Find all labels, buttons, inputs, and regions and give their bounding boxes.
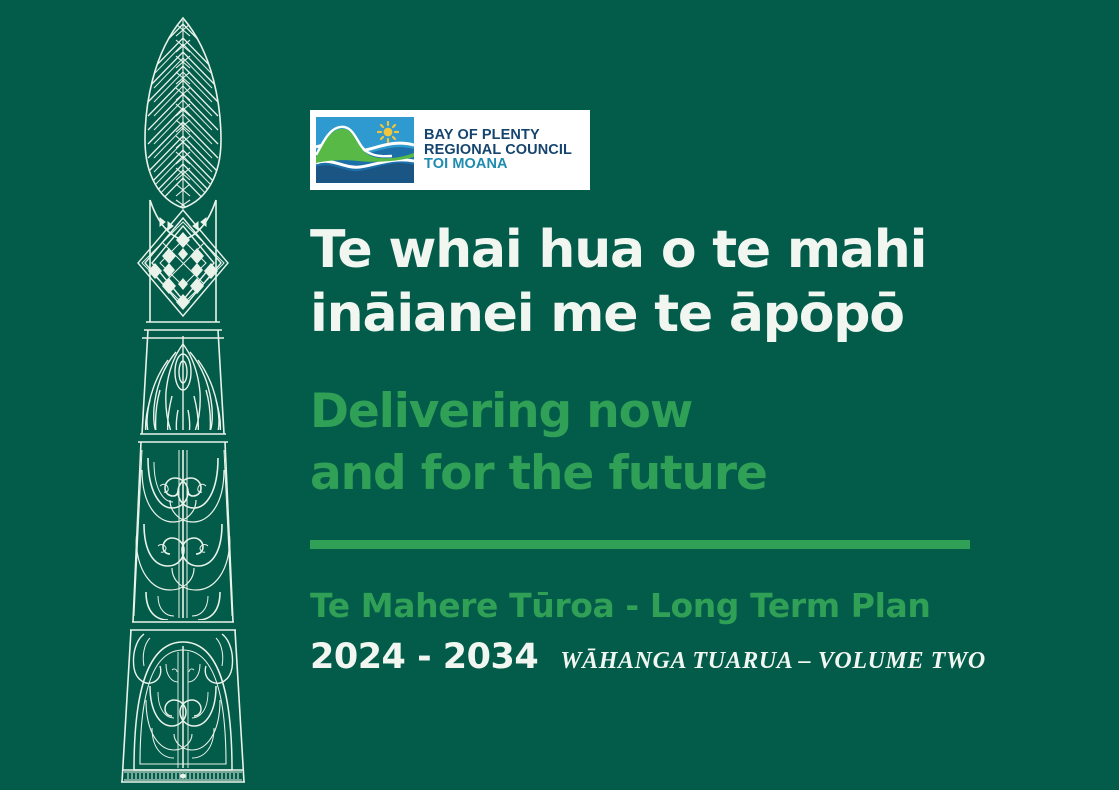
cover-text-block: Te whai hua o te mahi ināianei me te āpō… — [310, 0, 1010, 790]
english-title-line-1: Delivering now — [310, 388, 1010, 435]
base-notch-band — [124, 772, 242, 780]
english-title-line-2: and for the future — [310, 450, 1010, 497]
maori-title-line-2: ināianei me te āpōpō — [310, 288, 1010, 340]
plan-years-label: 2024 - 2034 — [310, 637, 538, 677]
horizontal-divider — [310, 540, 970, 549]
volume-label: WĀHANGA TUARUA – VOLUME TWO — [560, 648, 986, 675]
plan-name-label: Te Mahere Tūroa - Long Term Plan — [310, 586, 1010, 625]
maori-title-line-1: Te whai hua o te mahi — [310, 224, 1010, 276]
cover-page: BAY OF PLENTY REGIONAL COUNCIL TOI MOANA… — [0, 0, 1119, 790]
year-volume-row: 2024 - 2034 WĀHANGA TUARUA – VOLUME TWO — [310, 637, 1010, 677]
maori-carving-pou-artwork — [88, 0, 278, 790]
